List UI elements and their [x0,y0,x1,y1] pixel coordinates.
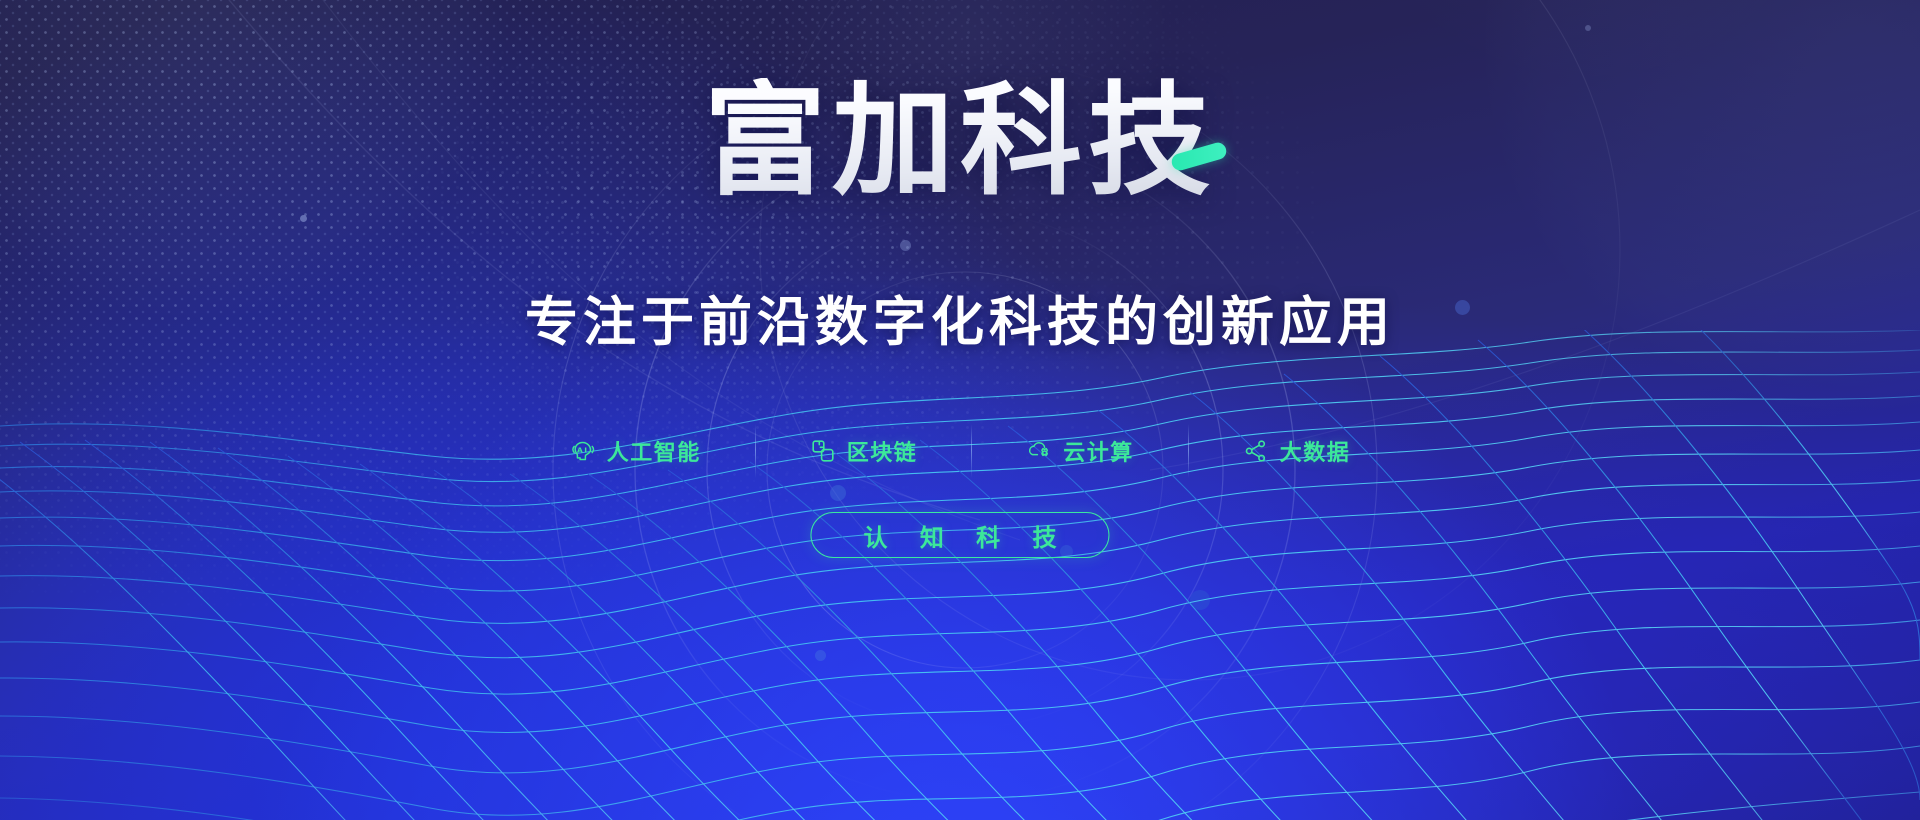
page-subtitle: 专注于前沿数字化科技的创新应用 [0,280,1920,356]
hero-content: 富加科技 专注于前沿数字化科技的创新应用 AI 人工智能 [0,0,1920,820]
feature-tag-blockchain[interactable]: 区块链 [756,431,972,471]
feature-tag-label: 区块链 [847,435,918,467]
feature-tag-label: 人工智能 [607,435,701,467]
feature-tag-bigdata[interactable]: 大数据 [1189,431,1405,471]
feature-tag-label: 云计算 [1063,435,1134,467]
svg-text:AI: AI [577,445,588,454]
hero-banner: 富加科技 专注于前沿数字化科技的创新应用 AI 人工智能 [0,0,1920,820]
page-title: 富加科技 [0,78,1920,205]
feature-tag-ai[interactable]: AI 人工智能 [516,431,755,471]
feature-tag-cloud[interactable]: 云计算 [972,431,1188,471]
cloud-gear-icon [1026,438,1052,464]
blockchain-blocks-icon [810,438,836,464]
ai-head-icon: AI [570,438,596,464]
feature-tag-label: 大数据 [1280,435,1351,467]
feature-tag-list: AI 人工智能 区块链 [0,424,1920,478]
cta-button[interactable]: 认 知 科 技 [810,512,1109,558]
share-nodes-icon [1243,438,1269,464]
